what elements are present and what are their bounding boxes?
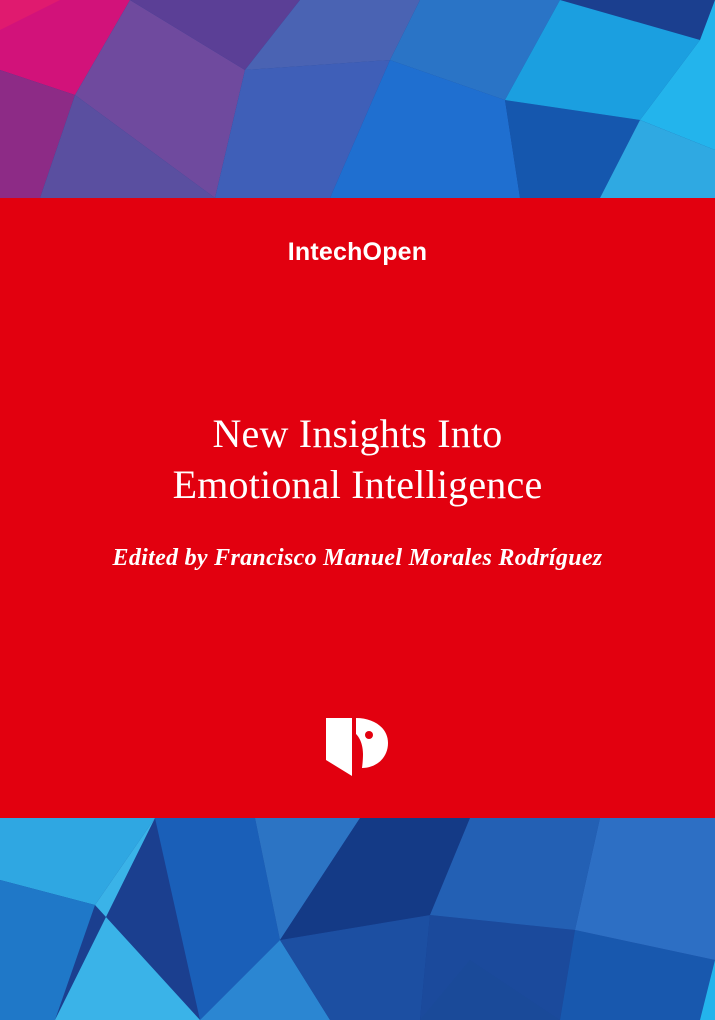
book-title-line-1: New Insights Into [0, 408, 715, 459]
book-title: New Insights Into Emotional Intelligence [0, 408, 715, 510]
logo-glyph [322, 716, 392, 778]
intechopen-bookmark-logo-icon [322, 716, 392, 778]
book-title-line-2: Emotional Intelligence [0, 459, 715, 510]
book-cover: IntechOpen New Insights Into Emotional I… [0, 0, 715, 1020]
book-editor: Edited by Francisco Manuel Morales Rodrí… [0, 545, 715, 572]
publisher-wordmark: IntechOpen [0, 238, 715, 267]
